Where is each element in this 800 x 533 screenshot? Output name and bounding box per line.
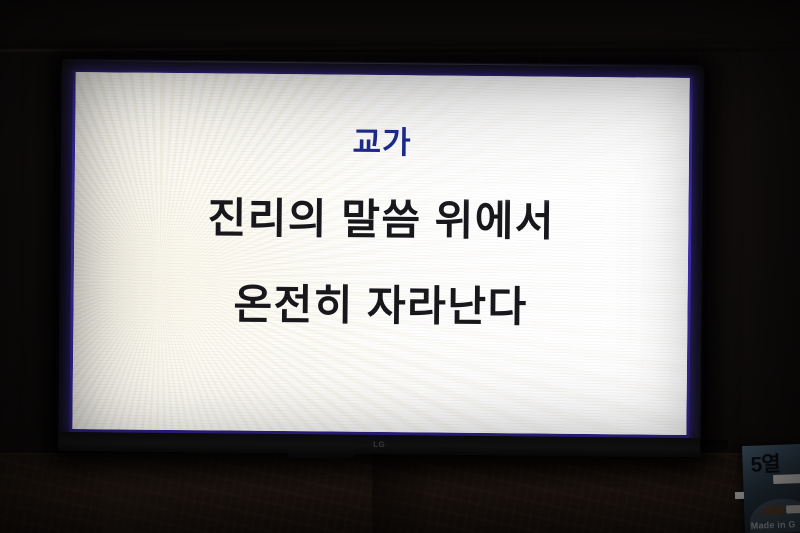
wall-pillar-left (103, 452, 199, 533)
television: 교가 진리의 말씀 위에서 온전히 자라난다 LG (58, 59, 704, 457)
row-sign: 5열 Made in G (742, 444, 800, 533)
wall-pillar-shadow (372, 452, 428, 533)
row-sign-reflection-chip (786, 505, 800, 513)
tv-mount-neck (288, 448, 354, 458)
tv-screen: 교가 진리의 말씀 위에서 온전히 자라난다 (72, 72, 689, 435)
lg-logo: LG (373, 440, 385, 449)
row-sign-emblem-icon (764, 506, 784, 516)
screenshot-scene: 교가 진리의 말씀 위에서 온전히 자라난다 LG 5열 Made in G (0, 0, 800, 533)
screen-vignette (72, 72, 689, 435)
row-sign-made-in-text: Made in G (751, 519, 796, 531)
row-sign-reflection-chip (773, 474, 800, 484)
row-sign-mount-tab (735, 492, 744, 499)
row-sign-row-label: 5열 (750, 454, 780, 476)
